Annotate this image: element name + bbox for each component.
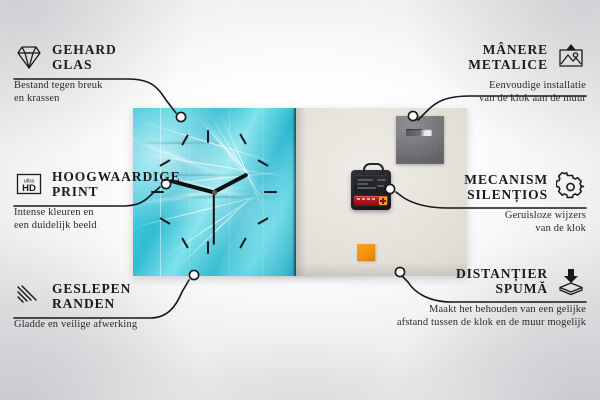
feature-distantier-spuma: DISTANȚIERSPUMĂ Maakt het behouden van e… — [371, 262, 586, 329]
gear-icon — [556, 172, 586, 202]
clock-tick-6 — [207, 241, 209, 254]
feature-title: HOOGWAARDIGEPRINT — [52, 169, 181, 199]
ultra-hd-icon: ultra HD — [14, 169, 44, 199]
feature-title: GESLEPENRANDEN — [52, 281, 131, 311]
diamond-icon — [14, 42, 44, 72]
feature-description: Intense kleuren eneen duidelijk beeld — [14, 203, 229, 232]
clock-tick-1 — [239, 133, 247, 144]
metal-hanger-plate — [396, 116, 444, 164]
feature-description: Gladde en veilige afwerking — [14, 315, 229, 331]
beveled-edges-icon — [14, 281, 44, 311]
picture-hanger-icon — [556, 42, 586, 72]
hanger-keyhole-slot — [406, 129, 432, 136]
feature-mecanism-silentios: MECANISMSILENȚIOS Geruisloze wijzersvan … — [371, 168, 586, 235]
feature-description: Eenvoudige installatievan de klok aan de… — [371, 76, 586, 105]
feature-geslepen-randen: GESLEPENRANDEN Gladde en veilige afwerki… — [14, 277, 229, 331]
feature-title: MÂNEREMETALICE — [468, 42, 548, 72]
svg-text:HD: HD — [22, 183, 36, 194]
infographic-canvas: GEHARDGLAS Bestand tegen breuken krassen… — [0, 0, 600, 400]
corner-vignette-bottom-center — [150, 320, 450, 400]
feature-description: Geruisloze wijzersvan de klok — [371, 206, 586, 235]
feature-description: Maakt het behouden van een gelijkeafstan… — [371, 300, 586, 329]
feature-hoogwaardige-print: ultra HD HOOGWAARDIGEPRINT Intense kleur… — [14, 165, 229, 232]
feature-title: GEHARDGLAS — [52, 42, 117, 72]
foam-spacer-icon — [556, 266, 586, 296]
clock-tick-5 — [239, 237, 247, 248]
feature-manere-metalice: MÂNEREMETALICE Eenvoudige installatievan… — [371, 38, 586, 105]
foam-spacer-pad — [357, 244, 375, 261]
feature-description: Bestand tegen breuken krassen — [14, 76, 229, 105]
clock-tick-12 — [207, 130, 209, 143]
clock-tick-3 — [264, 191, 277, 193]
feature-title: DISTANȚIERSPUMĂ — [456, 266, 548, 296]
feature-title: MECANISMSILENȚIOS — [464, 172, 548, 202]
clock-tick-7 — [181, 237, 189, 248]
feature-gehard-glas: GEHARDGLAS Bestand tegen breuken krassen — [14, 38, 229, 105]
